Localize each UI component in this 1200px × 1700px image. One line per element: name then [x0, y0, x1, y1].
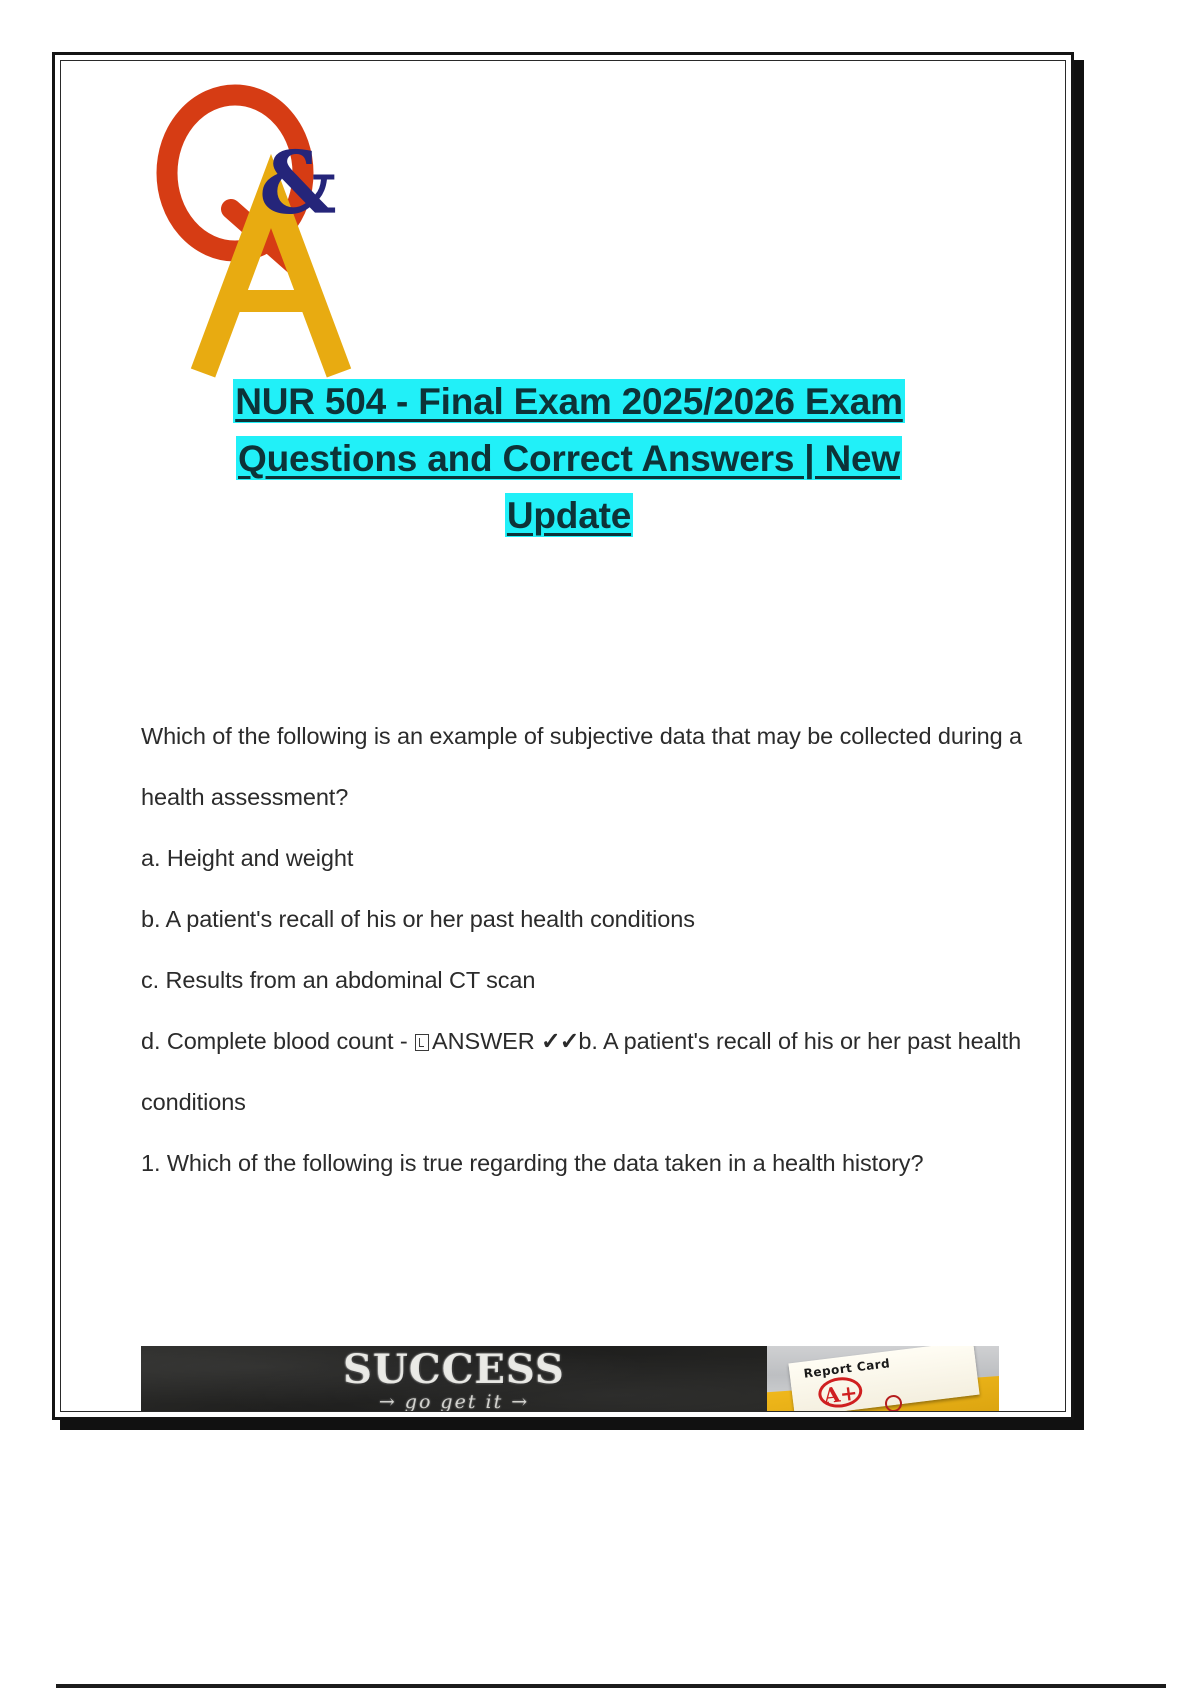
- title-line-3-text: Update: [505, 493, 633, 537]
- title-line-2-text: Questions and Correct Answers | New: [236, 436, 902, 480]
- option-d-with-answer: d. Complete blood count - ANSWER ✓✓b. A …: [141, 1011, 1031, 1133]
- question-stem: Which of the following is an example of …: [141, 706, 1031, 828]
- qa-logo-icon: &: [153, 73, 383, 383]
- missing-glyph-icon: [415, 1034, 429, 1051]
- option-a: a. Height and weight: [141, 828, 1031, 889]
- success-chalkboard-image: SUCCESS → go get it →: [141, 1346, 767, 1412]
- document-title: NUR 504 - Final Exam 2025/2026 Exam Ques…: [119, 373, 1019, 544]
- exam-body: Which of the following is an example of …: [141, 706, 1031, 1194]
- qa-logo: &: [153, 73, 383, 383]
- option-c: c. Results from an abdominal CT scan: [141, 950, 1031, 1011]
- option-b: b. A patient's recall of his or her past…: [141, 889, 1031, 950]
- answer-label: ANSWER: [432, 1028, 535, 1054]
- option-d-prefix: d. Complete blood count -: [141, 1028, 414, 1054]
- title-line-2: Questions and Correct Answers | New: [119, 430, 1019, 487]
- document-page-inner-border: & NUR 504 - Final Exam 2025/2026 Exam Qu…: [60, 60, 1066, 1412]
- title-line-3: Update: [119, 487, 1019, 544]
- footer-divider: [56, 1684, 1166, 1688]
- folder-grommet-icon: [885, 1395, 902, 1412]
- chalkboard-subline: → go get it →: [379, 1391, 529, 1412]
- double-check-icon: ✓✓: [541, 1028, 578, 1054]
- grade-badge: A+: [817, 1375, 864, 1410]
- footer-image-strip: SUCCESS → go get it → Report Card A+: [141, 1346, 999, 1412]
- title-line-1: NUR 504 - Final Exam 2025/2026 Exam: [119, 373, 1019, 430]
- report-card-image: Report Card A+: [767, 1346, 999, 1412]
- title-line-1-text: NUR 504 - Final Exam 2025/2026 Exam: [233, 379, 905, 423]
- document-page: & NUR 504 - Final Exam 2025/2026 Exam Qu…: [52, 52, 1074, 1420]
- chalkboard-headline: SUCCESS: [343, 1349, 565, 1391]
- svg-text:&: &: [259, 133, 337, 234]
- question-1: 1. Which of the following is true regard…: [141, 1133, 1031, 1194]
